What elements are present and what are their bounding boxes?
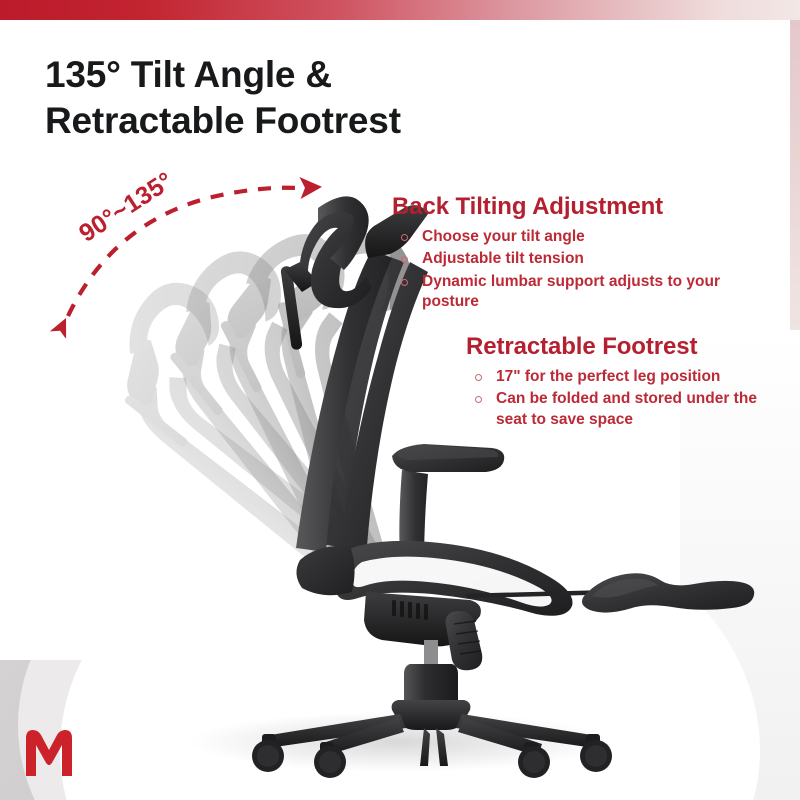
tilt-angle-annotation xyxy=(48,168,338,338)
feature-list: Choose your tilt angle Adjustable tilt t… xyxy=(392,227,752,313)
bullet-circle-icon xyxy=(475,396,482,403)
arrow-right-icon xyxy=(299,176,322,199)
list-item-label: 17" for the perfect leg position xyxy=(496,368,720,385)
infographic-canvas: 90°~135° 135° Tilt Angle & Retractable F… xyxy=(0,0,800,800)
list-item-label: Can be folded and stored under the seat … xyxy=(496,390,757,427)
list-item-label: Dynamic lumbar support adjusts to your p… xyxy=(422,273,720,310)
list-item: Choose your tilt angle xyxy=(392,227,752,247)
arrow-left-icon xyxy=(50,314,74,338)
list-item: Adjustable tilt tension xyxy=(392,249,752,269)
list-item: Dynamic lumbar support adjusts to your p… xyxy=(392,272,752,313)
list-item-label: Choose your tilt angle xyxy=(422,228,585,245)
section-title: Back Tilting Adjustment xyxy=(392,193,752,222)
bullet-circle-icon xyxy=(401,234,408,241)
page-title-line-2: Retractable Footrest xyxy=(45,98,565,144)
feature-list: 17" for the perfect leg position Can be … xyxy=(466,367,786,430)
page-title: 135° Tilt Angle & Retractable Footrest xyxy=(45,52,565,144)
section-retractable-footrest: Retractable Footrest 17" for the perfect… xyxy=(466,333,786,432)
list-item-label: Adjustable tilt tension xyxy=(422,250,584,267)
page-title-line-1: 135° Tilt Angle & xyxy=(45,54,332,95)
logo-mark xyxy=(26,730,72,776)
section-title: Retractable Footrest xyxy=(466,333,786,362)
list-item: 17" for the perfect leg position xyxy=(466,367,786,387)
list-item: Can be folded and stored under the seat … xyxy=(466,389,786,430)
m-logo xyxy=(22,728,76,778)
bullet-circle-icon xyxy=(401,279,408,286)
section-back-tilting-adjustment: Back Tilting Adjustment Choose your tilt… xyxy=(392,193,752,315)
bullet-circle-icon xyxy=(401,256,408,263)
bullet-circle-icon xyxy=(475,374,482,381)
